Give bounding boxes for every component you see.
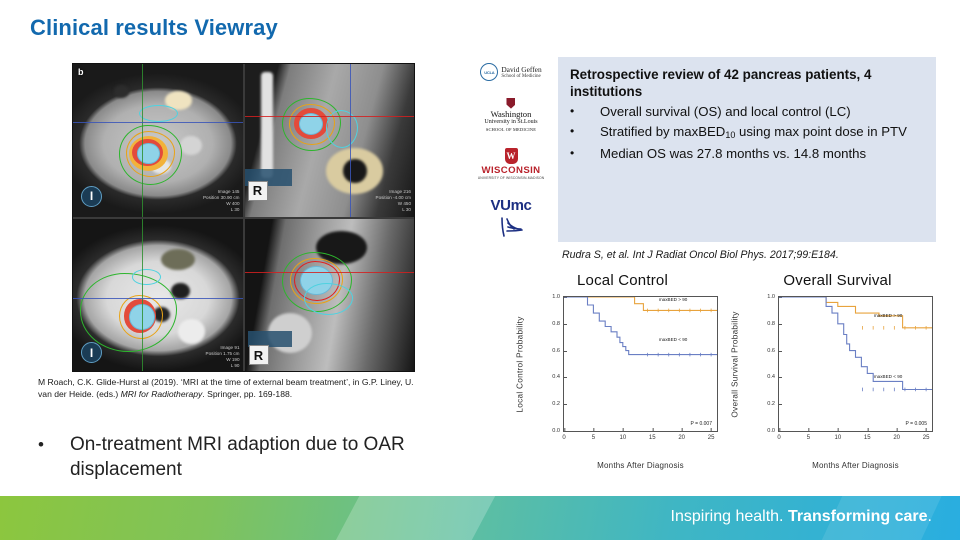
- orientation-badge-inferior: I: [81, 342, 102, 363]
- chart-x-tick: 0: [562, 431, 565, 441]
- logo-vumc: VUmc: [491, 197, 532, 238]
- chart-y-tick: 0.8: [552, 321, 564, 327]
- chart-series-label: maxBED < 90: [874, 374, 902, 379]
- logo-ucla-geffen: UCLA David Geffen School of Medicine: [480, 63, 541, 81]
- chart-x-tick: 0: [777, 431, 780, 441]
- vumc-swoosh-icon: [498, 216, 524, 238]
- vumc-name: VUmc: [491, 197, 532, 214]
- citation-line-1: M Roach, C.K. Glide-Hurst al (2019). ‘MR…: [38, 377, 307, 387]
- chart-p-value: P = 0.007: [691, 421, 712, 427]
- dicom-overlay-text: Image 216 Position -4.00 cm W 450 L 30: [376, 189, 412, 213]
- chart-x-tick: 20: [678, 431, 685, 441]
- chart-local-control: Local Control Local Control Probability …: [515, 268, 730, 484]
- chart-overall-survival: Overall Survival Overall Survival Probab…: [730, 268, 945, 484]
- chart-x-tick: 10: [620, 431, 627, 441]
- paper-citation: Rudra S, et al. Int J Radiat Oncol Biol …: [562, 249, 839, 261]
- chart-y-tick: 0.6: [767, 348, 779, 354]
- info-bullet-2: • Stratified by maxBED10 using max point…: [570, 122, 924, 143]
- footer-tagline-bold: Transforming care: [788, 508, 928, 525]
- institution-logo-column: UCLA David Geffen School of Medicine Was…: [464, 57, 558, 242]
- bullet-icon: •: [570, 102, 600, 121]
- citation-line-3: Springer, pp. 169-188.: [207, 389, 292, 399]
- info-bullet-2-pre: Stratified by maxBED: [600, 124, 725, 139]
- left-bullet-text: On-treatment MRI adaption due to OAR dis…: [70, 432, 458, 482]
- dicom-overlay-text: Image 145 Position 30.90 cm W 400 L 30: [203, 189, 240, 213]
- chart-curves: [779, 297, 932, 431]
- chart-p-value: P = 0.005: [906, 421, 927, 427]
- info-box-bullet-list: • Overall survival (OS) and local contro…: [570, 102, 924, 163]
- wustl-name: Washington: [491, 110, 532, 119]
- chart-plot-area: 0.00.20.40.60.81.00510152025maxBED > 90m…: [563, 296, 718, 432]
- ucla-seal-text: UCLA: [484, 70, 494, 75]
- chart-y-tick: 0.2: [552, 401, 564, 407]
- chart-x-tick: 5: [807, 431, 810, 441]
- chart-x-tick: 15: [864, 431, 871, 441]
- bullet-icon: •: [570, 144, 600, 163]
- info-bullet-2-sub: 10: [725, 130, 735, 140]
- chart-title: Local Control: [515, 272, 730, 289]
- chart-y-tick: 0.6: [552, 348, 564, 354]
- bullet-icon: •: [38, 432, 44, 482]
- chart-series-line: [779, 297, 932, 328]
- footer-streak-decoration: [315, 496, 496, 540]
- dicom-overlay-text: Image 91 Position 1.75 cm W 190 L 90: [206, 345, 240, 369]
- mri-panel-axial-mri: I Image 91 Position 1.75 cm W 190 L 90: [73, 219, 243, 372]
- chart-x-tick: 20: [893, 431, 900, 441]
- chart-y-tick: 0.4: [552, 374, 564, 380]
- chart-series-label: maxBED > 90: [874, 313, 902, 318]
- wustl-school: SCHOOL OF MEDICINE: [486, 127, 536, 132]
- orientation-badge-right: R: [248, 181, 268, 201]
- mri-image-grid: b I Image 145 Position 30.90 cm W 400 L …: [72, 63, 415, 372]
- chart-series-label: maxBED < 90: [659, 337, 687, 342]
- orientation-badge-inferior: I: [81, 186, 102, 207]
- chart-y-tick: 0.8: [767, 321, 779, 327]
- wustl-sub: University in St.Louis: [484, 119, 537, 126]
- panel-letter: b: [78, 67, 84, 77]
- geffen-name: David Geffen: [501, 65, 541, 74]
- summary-info-box: Retrospective review of 42 pancreas pati…: [558, 57, 936, 242]
- info-bullet-3-text: Median OS was 27.8 months vs. 14.8 month…: [600, 144, 924, 163]
- chart-x-axis-label: Months After Diagnosis: [778, 461, 933, 470]
- info-bullet-1: • Overall survival (OS) and local contro…: [570, 102, 924, 121]
- geffen-sub: School of Medicine: [501, 74, 541, 79]
- wisconsin-name: WISCONSIN: [481, 165, 540, 176]
- chart-x-tick: 15: [649, 431, 656, 441]
- citation-book-title: MRI for Radiotherapy: [121, 389, 203, 399]
- info-bullet-3: • Median OS was 27.8 months vs. 14.8 mon…: [570, 144, 924, 163]
- kaplan-meier-charts: Local Control Local Control Probability …: [515, 268, 945, 484]
- wisconsin-crest-icon: W: [505, 148, 518, 164]
- chart-x-tick: 5: [592, 431, 595, 441]
- image-citation: M Roach, C.K. Glide-Hurst al (2019). ‘MR…: [38, 376, 416, 401]
- footer-tagline: Inspiring health. Transforming care.: [671, 508, 932, 526]
- chart-x-tick: 25: [708, 431, 715, 441]
- chart-series-line: [564, 297, 717, 355]
- left-bullet-item: • On-treatment MRI adaption due to OAR d…: [38, 432, 458, 482]
- citation-line-2c: .: [202, 389, 204, 399]
- mri-panel-sagittal-ct: R Image 216 Position -4.00 cm W 450 L 30: [245, 64, 415, 217]
- footer-tagline-regular: Inspiring health.: [671, 508, 788, 525]
- chart-y-tick: 0.2: [767, 401, 779, 407]
- footer-banner: Inspiring health. Transforming care.: [0, 496, 960, 540]
- mri-panel-axial-ct: b I Image 145 Position 30.90 cm W 400 L …: [73, 64, 243, 217]
- bullet-icon: •: [570, 122, 600, 143]
- chart-x-axis-label: Months After Diagnosis: [563, 461, 718, 470]
- mri-panel-sagittal-mri: R: [245, 219, 415, 372]
- chart-y-tick: 1.0: [552, 294, 564, 300]
- footer-tagline-end: .: [928, 508, 932, 525]
- logo-wustl: Washington University in St.Louis SCHOOL…: [484, 98, 537, 132]
- chart-series-label: maxBED > 90: [659, 297, 687, 302]
- chart-y-tick: 1.0: [767, 294, 779, 300]
- info-bullet-1-text: Overall survival (OS) and local control …: [600, 102, 924, 121]
- chart-y-axis-label: Local Control Probability: [513, 296, 527, 432]
- wustl-shield-icon: [506, 98, 515, 109]
- orientation-badge-right: R: [249, 345, 269, 365]
- info-box-heading: Retrospective review of 42 pancreas pati…: [570, 66, 924, 100]
- chart-x-tick: 25: [923, 431, 930, 441]
- chart-y-tick: 0.4: [767, 374, 779, 380]
- chart-title: Overall Survival: [730, 272, 945, 289]
- ucla-seal-icon: UCLA: [480, 63, 498, 81]
- chart-curves: [564, 297, 717, 431]
- chart-y-axis-label: Overall Survival Probability: [728, 296, 742, 432]
- wisconsin-sub: UNIVERSITY OF WISCONSIN-MADISON: [478, 176, 545, 180]
- chart-plot-area: 0.00.20.40.60.81.00510152025maxBED > 90m…: [778, 296, 933, 432]
- info-bullet-2-post: using max point dose in PTV: [735, 124, 907, 139]
- page-title: Clinical results Viewray: [30, 15, 278, 41]
- chart-x-tick: 10: [835, 431, 842, 441]
- logo-wisconsin: W WISCONSIN UNIVERSITY OF WISCONSIN-MADI…: [478, 148, 545, 180]
